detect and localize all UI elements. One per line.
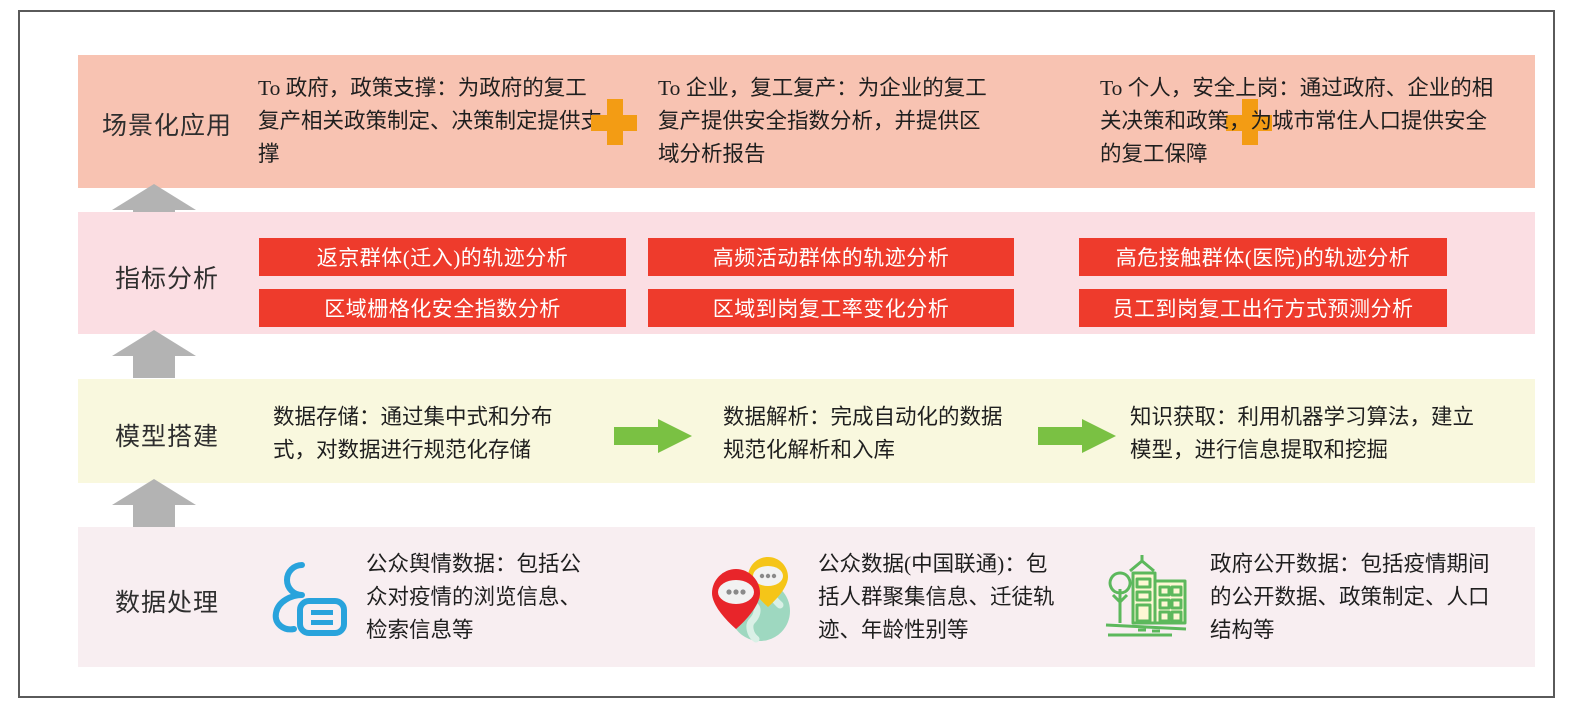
metric-box-return-rate[interactable]: 区域到岗复工率变化分析 [648, 289, 1014, 327]
flow-arrow-3 [112, 479, 196, 527]
green-arrow-icon-2 [1038, 419, 1116, 453]
data-source-text-government-open: 政府公开数据：包括疫情期间的公开数据、政策制定、人口结构等 [1210, 548, 1490, 647]
application-item-individual: To 个人，安全上岗：通过政府、企业的相关决策和政策，为城市常住人口提供安全的复… [1100, 55, 1500, 188]
flow-arrow-2 [112, 330, 196, 378]
metric-box-commute-prediction[interactable]: 员工到岗复工出行方式预测分析 [1079, 289, 1447, 327]
globe-map-pins-icon [708, 547, 804, 647]
data-source-public-opinion: 公众舆情数据：包括公众对疫情的浏览信息、检索信息等 [256, 527, 606, 667]
green-arrow-icon-1 [614, 419, 692, 453]
row-label-data-processing: 数据处理 [78, 583, 256, 619]
application-item-government: To 政府，政策支撑：为政府的复工复产相关政策制定、决策制定提供支撑 [258, 55, 603, 188]
band-data-processing: 数据处理 公众舆情数据：包括公众对疫情的浏览信息、检索信息等 [78, 527, 1535, 667]
data-source-text-public-opinion: 公众舆情数据：包括公众对疫情的浏览信息、检索信息等 [366, 548, 592, 647]
row-label-applications: 场景化应用 [78, 106, 256, 142]
data-source-government-open: 政府公开数据：包括疫情期间的公开数据、政策制定、人口结构等 [1100, 527, 1500, 667]
band-applications: 场景化应用 To 政府，政策支撑：为政府的复工复产相关政策制定、决策制定提供支撑… [78, 55, 1535, 188]
band-metrics: 指标分析 返京群体(迁入)的轨迹分析 区域栅格化安全指数分析 高频活动群体的轨迹… [78, 212, 1535, 334]
metric-box-high-risk-contact[interactable]: 高危接触群体(医院)的轨迹分析 [1079, 238, 1447, 276]
diagram-frame: 场景化应用 To 政府，政策支撑：为政府的复工复产相关政策制定、决策制定提供支撑… [18, 10, 1555, 698]
model-step-storage: 数据存储：通过集中式和分布式，对数据进行规范化存储 [273, 401, 593, 467]
data-source-text-unicom: 公众数据(中国联通)：包括人群聚集信息、迁徒轨迹、年龄性别等 [818, 548, 1056, 647]
data-source-unicom: 公众数据(中国联通)：包括人群聚集信息、迁徒轨迹、年龄性别等 [708, 527, 1068, 667]
city-buildings-tree-icon [1100, 547, 1196, 647]
model-step-parsing: 数据解析：完成自动化的数据规范化解析和入库 [723, 401, 1013, 467]
application-item-enterprise: To 企业，复工复产：为企业的复工复产提供安全指数分析，并提供区域分析报告 [658, 55, 990, 188]
application-text-enterprise: To 企业，复工复产：为企业的复工复产提供安全指数分析，并提供区域分析报告 [658, 72, 990, 171]
metric-box-return-group[interactable]: 返京群体(迁入)的轨迹分析 [259, 238, 626, 276]
band-model: 模型搭建 数据存储：通过集中式和分布式，对数据进行规范化存储 数据解析：完成自动… [78, 379, 1535, 483]
metric-box-grid-safety-index[interactable]: 区域栅格化安全指数分析 [259, 289, 626, 327]
row-label-metrics: 指标分析 [78, 259, 256, 295]
plus-icon-1 [591, 99, 637, 145]
row-label-model: 模型搭建 [78, 417, 256, 453]
application-text-individual: To 个人，安全上岗：通过政府、企业的相关决策和政策，为城市常住人口提供安全的复… [1100, 72, 1500, 171]
metric-box-high-frequency[interactable]: 高频活动群体的轨迹分析 [648, 238, 1014, 276]
model-step-knowledge: 知识获取：利用机器学习算法，建立模型，进行信息提取和挖掘 [1130, 401, 1490, 467]
person-card-icon [256, 547, 352, 647]
application-text-government: To 政府，政策支撑：为政府的复工复产相关政策制定、决策制定提供支撑 [258, 72, 603, 171]
